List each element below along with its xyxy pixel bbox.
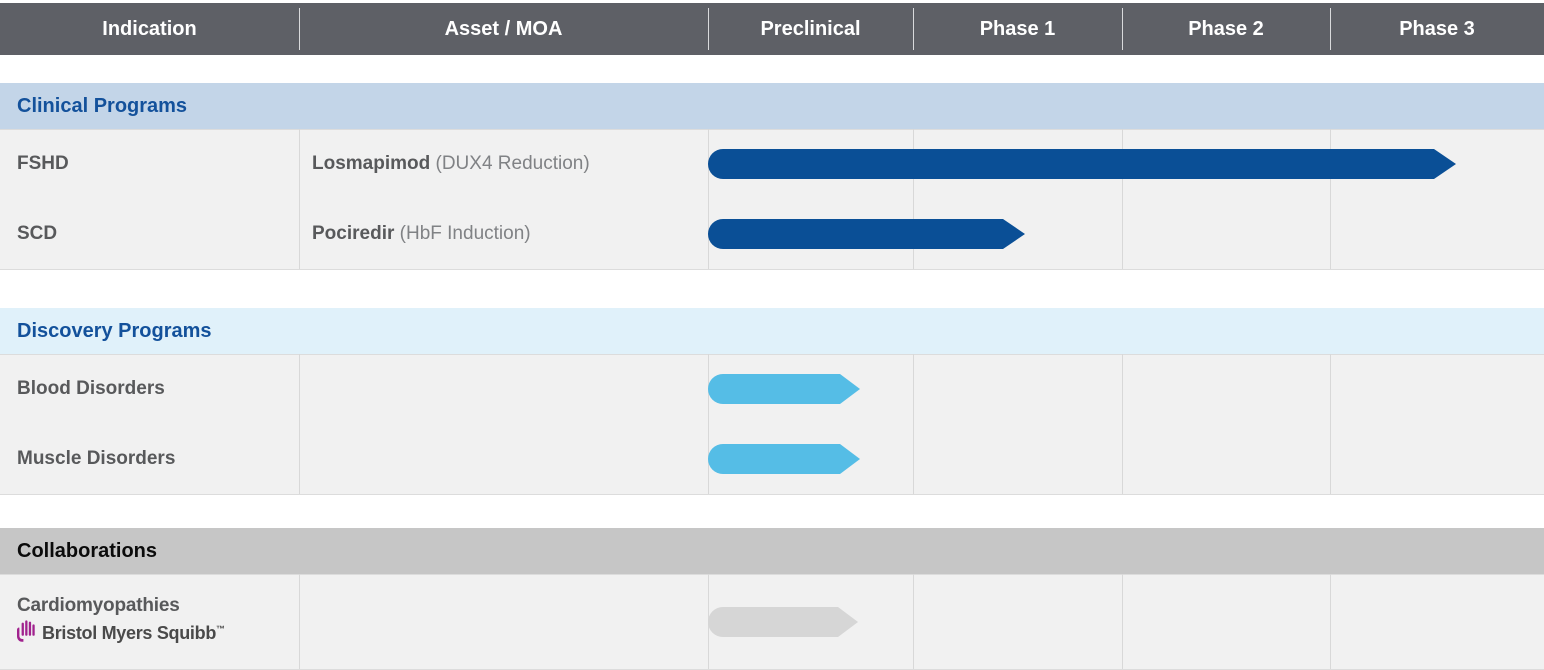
bar-arrow-tip	[1003, 219, 1025, 249]
asset-moa: (HbF Induction)	[394, 223, 530, 244]
section-clinical-programs: Clinical Programs FSHD Losmapimod (DUX4 …	[0, 83, 1544, 270]
column-header-preclinical: Preclinical	[708, 3, 913, 55]
column-header-label: Preclinical	[760, 18, 860, 41]
row-asset-moa: Pociredir (HbF Induction)	[299, 223, 708, 245]
section-body-discovery: Blood Disorders Muscle Disorders	[0, 354, 1544, 495]
indication-label: Cardiomyopathies	[17, 596, 299, 617]
section-title-clinical: Clinical Programs	[0, 83, 1544, 129]
column-header-label: Phase 3	[1399, 18, 1475, 41]
partner-name-text: Bristol Myers Squibb	[42, 623, 216, 643]
bar-body	[708, 149, 1434, 179]
row-indication: Muscle Disorders	[0, 448, 299, 470]
divider	[0, 494, 1544, 495]
asset-name: Pociredir	[312, 223, 394, 244]
row-indication: FSHD	[0, 153, 299, 175]
column-header-label: Asset / MOA	[445, 18, 563, 41]
partner-name: Bristol Myers Squibb™	[42, 624, 225, 644]
progress-bar-cardiomyopathies[interactable]	[708, 607, 858, 637]
column-header-phase-3: Phase 3	[1330, 3, 1544, 55]
row-indication: SCD	[0, 223, 299, 245]
row-indication: Blood Disorders	[0, 378, 299, 400]
section-title-discovery: Discovery Programs	[0, 308, 1544, 354]
section-body-clinical: FSHD Losmapimod (DUX4 Reduction) SCD Poc…	[0, 129, 1544, 270]
column-header-label: Phase 1	[980, 18, 1056, 41]
pipeline-chart: Indication Asset / MOA Preclinical Phase…	[0, 0, 1544, 670]
column-header-label: Indication	[102, 18, 196, 41]
bar-arrow-tip	[1434, 149, 1456, 179]
column-header-phase-1: Phase 1	[913, 3, 1122, 55]
asset-name: Losmapimod	[312, 153, 430, 174]
divider	[0, 269, 1544, 270]
section-body-collaborations: Cardiomyopathies	[0, 574, 1544, 670]
bar-body	[708, 219, 1003, 249]
bristol-myers-squibb-icon	[17, 620, 37, 648]
column-header-label: Phase 2	[1188, 18, 1264, 41]
pipeline-header: Indication Asset / MOA Preclinical Phase…	[0, 3, 1544, 55]
row-indication: Cardiomyopathies	[0, 596, 299, 648]
bar-body	[708, 607, 838, 637]
partner-logo: Bristol Myers Squibb™	[17, 620, 299, 648]
progress-bar-muscle-disorders[interactable]	[708, 444, 860, 474]
column-header-phase-2: Phase 2	[1122, 3, 1330, 55]
bar-arrow-tip	[840, 374, 860, 404]
bar-arrow-tip	[838, 607, 858, 637]
asset-moa: (DUX4 Reduction)	[430, 153, 589, 174]
progress-bar-pociredir[interactable]	[708, 219, 1025, 249]
section-title-collaborations: Collaborations	[0, 528, 1544, 574]
trademark-symbol: ™	[216, 624, 225, 634]
section-discovery-programs: Discovery Programs Blood Disorders Muscl…	[0, 308, 1544, 495]
bar-body	[708, 374, 840, 404]
bar-arrow-tip	[840, 444, 860, 474]
bar-body	[708, 444, 840, 474]
column-header-asset-moa: Asset / MOA	[299, 3, 708, 55]
progress-bar-blood-disorders[interactable]	[708, 374, 860, 404]
section-collaborations: Collaborations Cardiomyopathies	[0, 528, 1544, 670]
row-asset-moa: Losmapimod (DUX4 Reduction)	[299, 153, 708, 175]
column-header-indication: Indication	[0, 3, 299, 55]
progress-bar-losmapimod[interactable]	[708, 149, 1456, 179]
